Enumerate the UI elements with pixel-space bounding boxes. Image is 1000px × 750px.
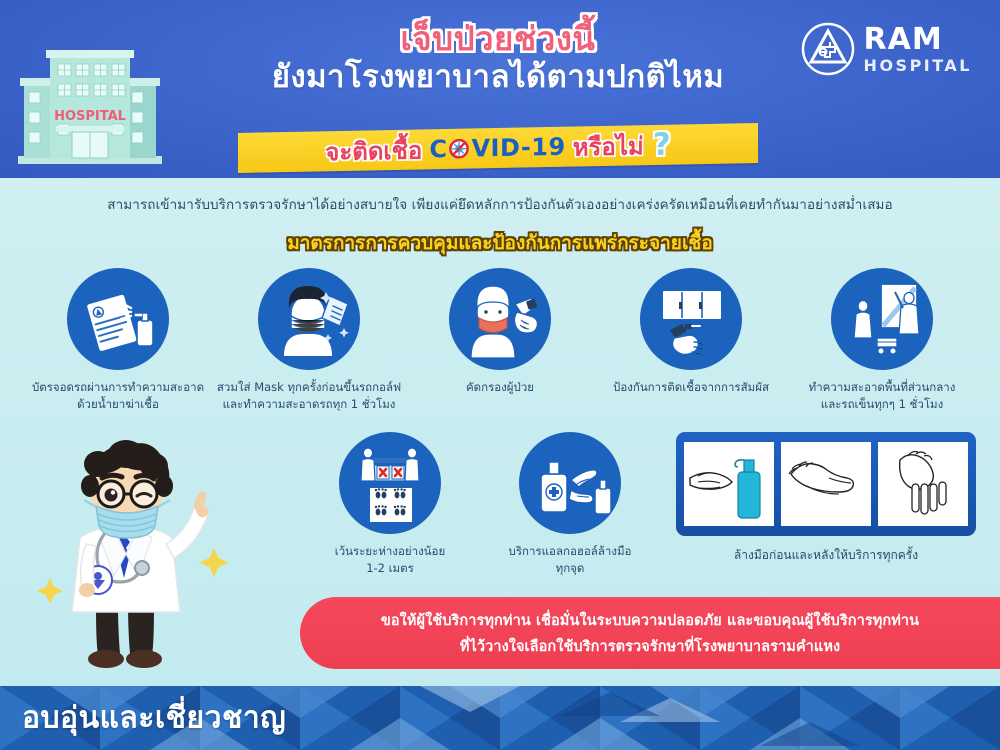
handwash-soap-pump-icon: [684, 442, 774, 526]
banner-line-2: ที่ไว้วางใจเลือกใช้บริการตรวจรักษาที่โรง…: [460, 635, 840, 658]
measure-caption: บัตรจอดรถผ่านการทำความสะอาด ด้วยน้ำยาฆ่า…: [23, 379, 213, 412]
hospital-building-sign: HOSPITAL: [54, 109, 126, 124]
caption-line-2: ทุกจุด: [475, 560, 665, 577]
intro-paragraph: สามารถเข้ามารับบริการตรวจรักษาได้อย่างสบ…: [0, 193, 1000, 215]
measure-caption: ป้องกันการติดเชื้อจากการสัมผัส: [596, 379, 786, 396]
caption-line-2: ด้วยน้ำยาฆ่าเชื้อ: [23, 396, 213, 413]
ram-logo-name: RAM: [864, 25, 972, 55]
temperature-screening-icon: [449, 268, 551, 370]
handwash-frame: [676, 432, 976, 536]
caption-line-1: สวมใส่ Mask ทุกครั้งก่อนขึ้นรถกอล์ฟ: [214, 379, 404, 396]
caption-line-2: 1-2 เมตร: [295, 560, 485, 577]
measures-heading-wrap: มาตรการการควบคุมและป้องกันการแพร่กระจายเ…: [0, 228, 1000, 258]
handwash-steps-panel: ล้างมือก่อนและหลังให้บริการทุกครั้ง: [676, 432, 976, 565]
parking-card-spray-icon: [67, 268, 169, 370]
measures-row-1: บัตรจอดรถผ่านการทำความสะอาด ด้วยน้ำยาฆ่า…: [28, 268, 972, 412]
title-line-2: ยังมาโรงพยาบาลได้ตามปกติไหม: [178, 57, 818, 99]
alcohol-gel-icon: [519, 432, 621, 534]
measures-row-2: เว้นระยะห่างอย่างน้อย 1-2 เมตร: [300, 432, 972, 576]
cartoon-doctor-pointing-up: [18, 428, 280, 678]
ram-logo-sub: HOSPITAL: [864, 58, 972, 74]
social-distancing-icon: [339, 432, 441, 534]
measure-item-alcohol-gel: บริการแอลกอฮอล์ล้างมือ ทุกจุด: [480, 432, 660, 576]
hospital-building-illustration: HOSPITAL: [14, 28, 166, 170]
caption-line-1: เว้นระยะห่างอย่างน้อย: [295, 543, 485, 560]
covid-19-label: C VID-19: [429, 133, 565, 164]
title-line-1: เจ็บป่วยช่วงนี้: [178, 18, 818, 59]
infographic-poster: HOSPITAL RAM HOSPITAL: [0, 0, 1000, 750]
thank-you-banner: ขอให้ผู้ใช้บริการทุกท่าน เชื่อมั่นในระบบ…: [300, 597, 1000, 669]
header-band: HOSPITAL RAM HOSPITAL: [0, 0, 1000, 178]
measure-item-parking-card: บัตรจอดรถผ่านการทำความสะอาด ด้วยน้ำยาฆ่า…: [28, 268, 208, 412]
footer-tagline: อบอุ่นและเชี่ยวชาญ: [22, 695, 286, 742]
measure-caption: เว้นระยะห่างอย่างน้อย 1-2 เมตร: [295, 543, 485, 576]
caption-line-2: และรถเข็นทุกๆ 1 ชั่วโมง: [787, 396, 977, 413]
surface-disinfect-icon: [640, 268, 742, 370]
wear-mask-icon: [258, 268, 360, 370]
band-suffix-text: หรือไม่: [573, 126, 644, 166]
measure-item-wear-mask: สวมใส่ Mask ทุกครั้งก่อนขึ้นรถกอล์ฟ และท…: [219, 268, 399, 412]
handwash-interlace-fingers-icon: [878, 442, 968, 526]
band-question-mark: ?: [653, 127, 671, 163]
caption-line-1: บริการแอลกอฮอล์ล้างมือ: [475, 543, 665, 560]
measure-caption: บริการแอลกอฮอล์ล้างมือ ทุกจุด: [475, 543, 665, 576]
measure-item-clean-common-area: ทำความสะอาดพื้นที่ส่วนกลาง และรถเข็นทุกๆ…: [792, 268, 972, 412]
band-prefix-text: จะติดเชื้อ: [325, 130, 422, 171]
caption-line-1: คัดกรองผู้ป่วย: [405, 379, 595, 396]
measure-item-screening: คัดกรองผู้ป่วย: [410, 268, 590, 412]
caption-line-1: ทำความสะอาดพื้นที่ส่วนกลาง: [787, 379, 977, 396]
no-virus-icon: [448, 138, 470, 160]
handwash-rub-palms-icon: [781, 442, 871, 526]
clean-common-area-icon: [831, 268, 933, 370]
measures-heading: มาตรการการควบคุมและป้องกันการแพร่กระจายเ…: [287, 232, 713, 254]
covid-rest-text: VID-19: [471, 133, 565, 163]
covid-letter-c: C: [429, 135, 447, 163]
measure-caption: ทำความสะอาดพื้นที่ส่วนกลาง และรถเข็นทุกๆ…: [787, 379, 977, 412]
ram-hospital-logo: RAM HOSPITAL: [801, 22, 972, 76]
measure-item-surface-contact: ป้องกันการติดเชื้อจากการสัมผัส: [601, 268, 781, 412]
footer-band: อบอุ่นและเชี่ยวชาญ: [0, 686, 1000, 750]
caption-line-1: บัตรจอดรถผ่านการทำความสะอาด: [23, 379, 213, 396]
poster-title: เจ็บป่วยช่วงนี้ ยังมาโรงพยาบาลได้ตามปกติ…: [178, 18, 818, 99]
caption-line-2: และทำความสะอาดรถทุก 1 ชั่วโมง: [214, 396, 404, 413]
caption-line-1: ป้องกันการติดเชื้อจากการสัมผัส: [596, 379, 786, 396]
measure-item-social-distancing: เว้นระยะห่างอย่างน้อย 1-2 เมตร: [300, 432, 480, 576]
banner-line-1: ขอให้ผู้ใช้บริการทุกท่าน เชื่อมั่นในระบบ…: [381, 609, 919, 632]
measure-caption: สวมใส่ Mask ทุกครั้งก่อนขึ้นรถกอล์ฟ และท…: [214, 379, 404, 412]
measure-caption: คัดกรองผู้ป่วย: [405, 379, 595, 396]
handwash-caption: ล้างมือก่อนและหลังให้บริการทุกครั้ง: [734, 546, 918, 565]
